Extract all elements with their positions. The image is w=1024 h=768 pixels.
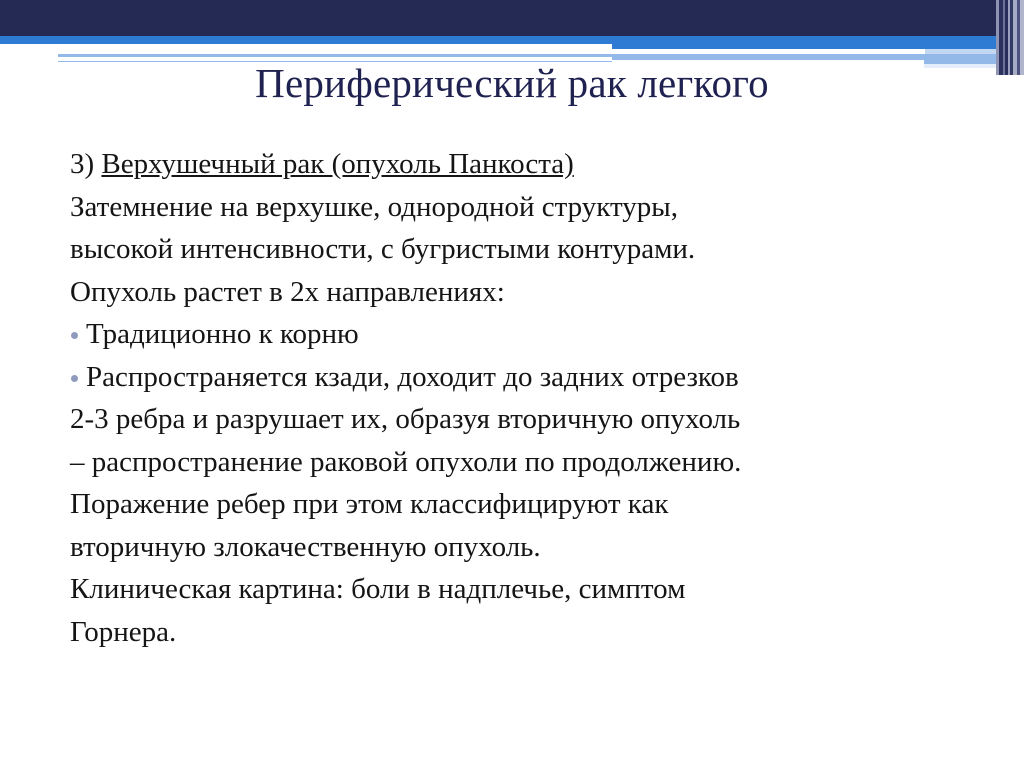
text-line: вторичную злокачественную опухоль.: [70, 526, 970, 569]
text-line: Поражение ребер при этом классифицируют …: [70, 483, 970, 526]
text-line: Затемнение на верхушке, однородной струк…: [70, 186, 970, 229]
text-line: Горнера.: [70, 611, 970, 654]
deco-notch-right-upper: [612, 49, 925, 54]
line-text: – распространение раковой опухоли по про…: [70, 446, 741, 478]
body-text-block: 3) Верхушечный рак (опухоль Панкоста)Зат…: [70, 143, 970, 653]
line-prefix: 3): [70, 148, 101, 180]
line-text: Горнера.: [70, 616, 176, 648]
line-text: Традиционно к корню: [86, 318, 359, 350]
line-text: вторичную злокачественную опухоль.: [70, 531, 541, 563]
line-text: Распространяется кзади, доходит до задни…: [86, 361, 739, 393]
slide-root: Периферический рак легкого 3) Верхушечны…: [0, 0, 1024, 768]
deco-band-navy: [0, 0, 1024, 36]
deco-notch-left-upper: [0, 44, 612, 54]
bullet-list-item: Традиционно к корню: [70, 313, 970, 356]
bullet-list-item: Распространяется кзади, доходит до задни…: [70, 356, 970, 399]
page-title: Периферический рак легкого: [0, 58, 1024, 108]
line-text: Поражение ребер при этом классифицируют …: [70, 488, 668, 520]
text-line: Опухоль растет в 2х направлениях:: [70, 271, 970, 314]
text-line: Клиническая картина: боли в надплечье, с…: [70, 568, 970, 611]
line-text: Затемнение на верхушке, однородной струк…: [70, 191, 678, 223]
line-text: высокой интенсивности, с бугристыми конт…: [70, 233, 695, 265]
text-line: – распространение раковой опухоли по про…: [70, 441, 970, 484]
line-underlined-text: Верхушечный рак (опухоль Панкоста): [101, 148, 573, 180]
text-line: 2-3 ребра и разрушает их, образуя вторич…: [70, 398, 970, 441]
text-line: 3) Верхушечный рак (опухоль Панкоста): [70, 143, 970, 186]
line-text: Опухоль растет в 2х направлениях:: [70, 276, 505, 308]
line-text: 2-3 ребра и разрушает их, образуя вторич…: [70, 403, 740, 435]
text-line: высокой интенсивности, с бугристыми конт…: [70, 228, 970, 271]
line-text: Клиническая картина: боли в надплечье, с…: [70, 573, 685, 605]
